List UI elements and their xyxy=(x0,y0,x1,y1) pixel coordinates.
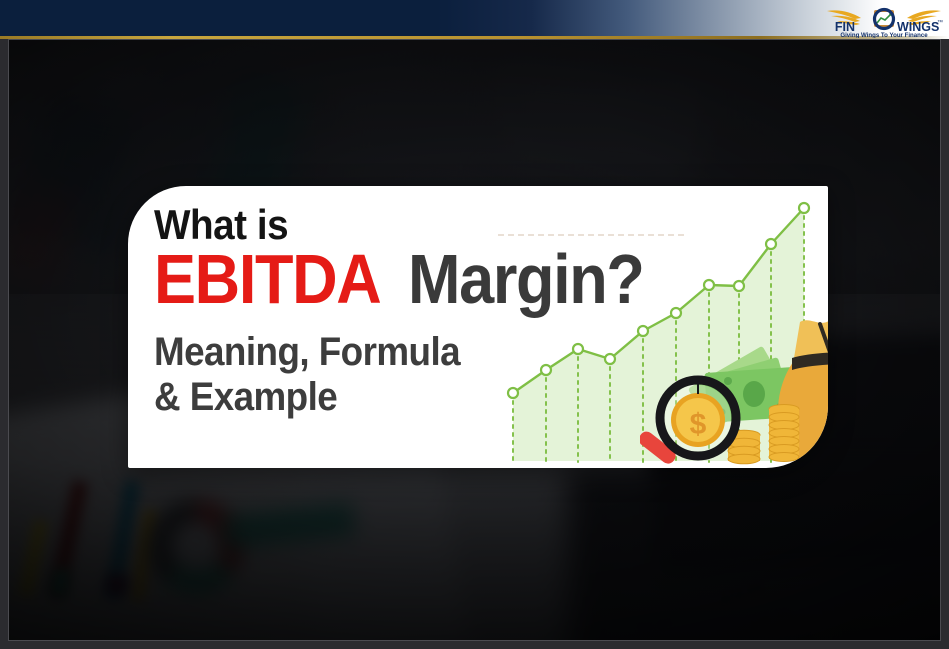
background-shape-5 xyxy=(493,64,703,194)
coin-stack-tall xyxy=(769,405,799,462)
poster-canvas: 98.00 172.00 145.00 217.00 312.00 56.00 … xyxy=(0,0,949,649)
background-bar-purple xyxy=(104,573,129,598)
headline-block: What is EBITDA Margin? Meaning, Formula … xyxy=(154,204,574,420)
headline-line-2: EBITDA Margin? xyxy=(154,244,574,314)
subtitle-line-2: & Example xyxy=(154,375,540,420)
coin-dollar-symbol: $ xyxy=(690,408,707,441)
magnifier-icon: $ xyxy=(640,370,770,468)
logo-tagline: Giving Wings To Your Finance xyxy=(840,32,928,38)
headline-keyword-margin: Margin? xyxy=(408,244,644,314)
magnified-coin: $ xyxy=(671,393,725,447)
subtitle-line-1: Meaning, Formula xyxy=(154,330,540,375)
title-card: $ $ What is EBITDA M xyxy=(128,186,828,468)
finowings-logo[interactable]: FIN WINGS ™ Giving Wings To Your Finance xyxy=(825,2,943,38)
top-header-bar xyxy=(0,0,949,36)
background-donut-hole xyxy=(172,523,220,571)
headline-keyword-ebitda: EBITDA xyxy=(154,244,380,314)
subtitle-block: Meaning, Formula & Example xyxy=(154,330,574,420)
logo-trademark: ™ xyxy=(937,19,943,26)
top-header-underline xyxy=(0,36,949,39)
